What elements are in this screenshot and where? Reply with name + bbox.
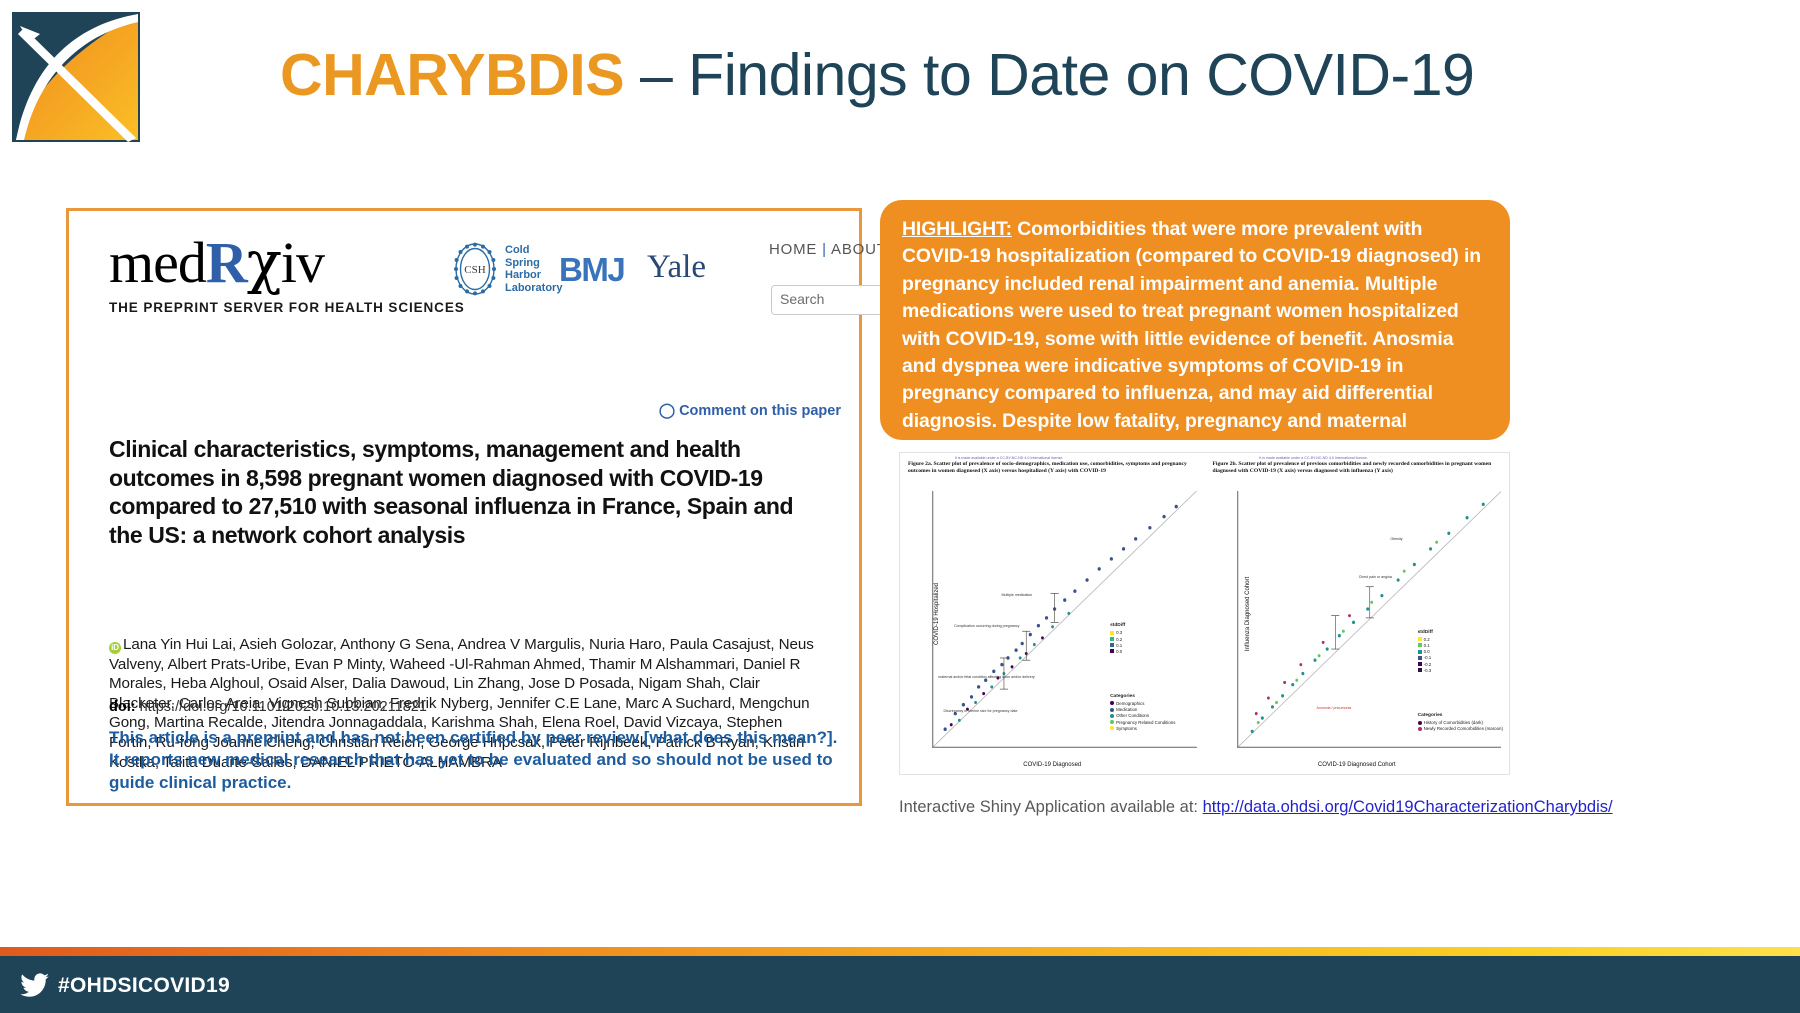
medrxiv-nav[interactable]: HOME | ABOUT xyxy=(769,241,887,258)
figure-2a-annotation-3: Discrepancy in uterine size for pregnanc… xyxy=(944,709,1018,713)
tick: 0.1 xyxy=(1116,643,1122,648)
figure-2b-caption: Figure 2b. Scatter plot of prevalence of… xyxy=(1213,461,1504,476)
figure-2b-annotation-2: Anosmia / pneumonia xyxy=(1317,706,1352,710)
figure-2a-legend: Categories Demographics Medication Other… xyxy=(1110,694,1175,732)
swatch xyxy=(1418,721,1422,725)
tick: -0.1 xyxy=(1424,655,1432,660)
figure-2a-annotation-0: Multiple medication xyxy=(1002,593,1033,597)
swatch xyxy=(1110,637,1114,641)
figure-2b-legend: Categories History of Comorbidities (dar… xyxy=(1418,713,1503,733)
preprint-disclaimer: This article is a preprint and has not b… xyxy=(109,727,839,794)
figure-2b-plot: Obesity Chest pain or angina Anosmia / p… xyxy=(1237,491,1502,748)
ohdsi-logo xyxy=(10,10,142,144)
cshl-label: ColdSpringHarborLaboratory xyxy=(505,244,562,294)
swatch xyxy=(1110,720,1114,724)
figure-2b-xlabel: COVID-19 Diagnosed Cohort xyxy=(1205,762,1510,768)
yale-logo: Yale xyxy=(647,249,706,286)
cshl-logo: CSH ColdSpringHarborLaboratory xyxy=(452,241,562,297)
tick: 0.0 xyxy=(1424,649,1430,654)
swatch xyxy=(1110,701,1114,705)
footer-hashtag: #OHDSICOVID19 xyxy=(58,974,230,998)
swatch xyxy=(1418,668,1422,672)
figure-2a-colorbar-title: stdDiff xyxy=(1110,623,1125,629)
figure-2a-annotation-1: Complication occurring during pregnancy xyxy=(954,624,1019,628)
figure-2a-legend-title: Categories xyxy=(1110,694,1175,700)
page-title: CHARYBDIS – Findings to Date on COVID-19 xyxy=(280,38,1680,112)
medrxiv-tagline: THE PREPRINT SERVER FOR HEALTH SCIENCES xyxy=(109,300,465,315)
swatch xyxy=(1418,662,1422,666)
tick: 0.2 xyxy=(1424,637,1430,642)
medrxiv-logo: medRχiv THE PREPRINT SERVER FOR HEALTH S… xyxy=(109,233,465,315)
comment-on-paper-link[interactable]: ◯Comment on this paper xyxy=(659,403,841,419)
comment-link-label: Comment on this paper xyxy=(679,403,841,419)
speech-bubble-icon: ◯ xyxy=(659,403,675,419)
nav-home[interactable]: HOME xyxy=(769,241,817,258)
figure-2b: It is made available under a CC-BY-NC-ND… xyxy=(1205,453,1510,774)
tick: 0.1 xyxy=(1424,643,1430,648)
highlight-label: HIGHLIGHT: xyxy=(902,218,1012,240)
swatch xyxy=(1110,726,1114,730)
figure-2a-xlabel: COVID-19 Diagnosed xyxy=(900,762,1205,768)
figure-2a-license: It is made available under a CC-BY-NC-ND… xyxy=(955,456,1064,460)
figure-2b-annotation-1: Chest pain or angina xyxy=(1359,575,1392,579)
medrxiv-r: R xyxy=(206,230,247,295)
shiny-app-link[interactable]: http://data.ohdsi.org/Covid19Characteriz… xyxy=(1203,798,1613,816)
figure-2b-license: It is made available under a CC-BY-NC-ND… xyxy=(1259,456,1368,460)
figure-panel: It is made available under a CC-BY-NC-ND… xyxy=(899,452,1510,775)
medrxiv-header: medRχiv THE PREPRINT SERVER FOR HEALTH S… xyxy=(69,211,859,331)
doi-label: doi: xyxy=(109,699,136,715)
highlight-callout: HIGHLIGHT: Comorbidities that were more … xyxy=(880,200,1510,440)
twitter-bird-icon xyxy=(20,973,50,999)
bmj-logo: BMJ xyxy=(559,251,624,289)
swatch xyxy=(1418,637,1422,641)
highlight-text: HIGHLIGHT: Comorbidities that were more … xyxy=(902,216,1488,463)
svg-text:CSH: CSH xyxy=(464,264,485,276)
paper-title: Clinical characteristics, symptoms, mana… xyxy=(109,435,809,549)
legend-label: Other Conditions xyxy=(1116,713,1149,718)
medrxiv-wordmark: medRχiv xyxy=(109,233,465,292)
figure-2a: It is made available under a CC-BY-NC-ND… xyxy=(900,453,1205,774)
footer-gradient-bar xyxy=(0,947,1800,956)
shiny-app-line: Interactive Shiny Application available … xyxy=(899,798,1619,817)
figure-2b-colorbar-title: stdDiff xyxy=(1418,630,1433,636)
figure-2a-caption: Figure 2a. Scatter plot of prevalence of… xyxy=(908,461,1199,476)
swatch xyxy=(1110,643,1114,647)
figure-2b-colorbar: stdDiff 0.2 0.1 0.0 -0.1 -0.2 -0.3 xyxy=(1418,630,1433,674)
preprint-screenshot-card: medRχiv THE PREPRINT SERVER FOR HEALTH S… xyxy=(66,208,862,806)
nav-separator: | xyxy=(822,241,827,258)
swatch xyxy=(1418,656,1422,660)
cshl-dna-ring-icon: CSH xyxy=(452,241,498,297)
search-input[interactable]: Search xyxy=(771,285,891,315)
swatch xyxy=(1418,727,1422,731)
shiny-app-label: Interactive Shiny Application available … xyxy=(899,798,1198,816)
swatch xyxy=(1110,714,1114,718)
swatch xyxy=(1110,708,1114,712)
legend-label: Symptoms xyxy=(1116,726,1137,731)
figure-2a-annotation-2: maternal and/or fetal condition affectin… xyxy=(938,675,1034,679)
tick: 0.3 xyxy=(1116,630,1122,635)
highlight-body: Comorbidities that were more prevalent w… xyxy=(902,218,1481,459)
slide-header: CHARYBDIS – Findings to Date on COVID-19 xyxy=(0,0,1800,160)
figure-2b-canvas xyxy=(1238,491,1502,747)
page-title-accent: CHARYBDIS xyxy=(280,42,624,108)
legend-label: Pregnancy Related Conditions xyxy=(1116,720,1175,725)
medrxiv-med: med xyxy=(109,230,206,295)
doi-value[interactable]: https://doi.org/10.1101/2020.10.13.20211… xyxy=(140,699,427,715)
swatch xyxy=(1110,649,1114,653)
figure-2b-ylabel: Influenza Diagnosed Cohort xyxy=(1245,576,1251,650)
tick: 0.0 xyxy=(1116,649,1122,654)
orcid-icon: iD xyxy=(109,642,121,654)
tick: 0.2 xyxy=(1116,637,1122,642)
legend-label: History of Comorbidities (dark) xyxy=(1424,720,1483,725)
figure-2b-legend-title: Categories xyxy=(1418,713,1503,719)
legend-label: Medication xyxy=(1116,707,1137,712)
medrxiv-iv: iv xyxy=(281,230,324,295)
tick: -0.3 xyxy=(1424,668,1432,673)
medrxiv-chi: χ xyxy=(247,228,281,296)
legend-label: Newly Recorded Comorbidities (maroon) xyxy=(1424,726,1503,731)
page-title-rest: – Findings to Date on COVID-19 xyxy=(624,42,1474,108)
figure-2a-colorbar: stdDiff 0.3 0.2 0.1 0.0 xyxy=(1110,623,1125,655)
figure-2b-annotation-0: Obesity xyxy=(1390,537,1402,541)
swatch xyxy=(1418,643,1422,647)
tick: -0.2 xyxy=(1424,662,1432,667)
doi-line: doi: https://doi.org/10.1101/2020.10.13.… xyxy=(109,699,427,715)
nav-about[interactable]: ABOUT xyxy=(831,241,887,258)
figure-2a-ylabel: COVID-19 Hospitalized xyxy=(934,582,940,644)
swatch xyxy=(1418,650,1422,654)
swatch xyxy=(1110,631,1114,635)
legend-label: Demographics xyxy=(1116,701,1144,706)
footer-bar: #OHDSICOVID19 xyxy=(0,956,1800,1013)
